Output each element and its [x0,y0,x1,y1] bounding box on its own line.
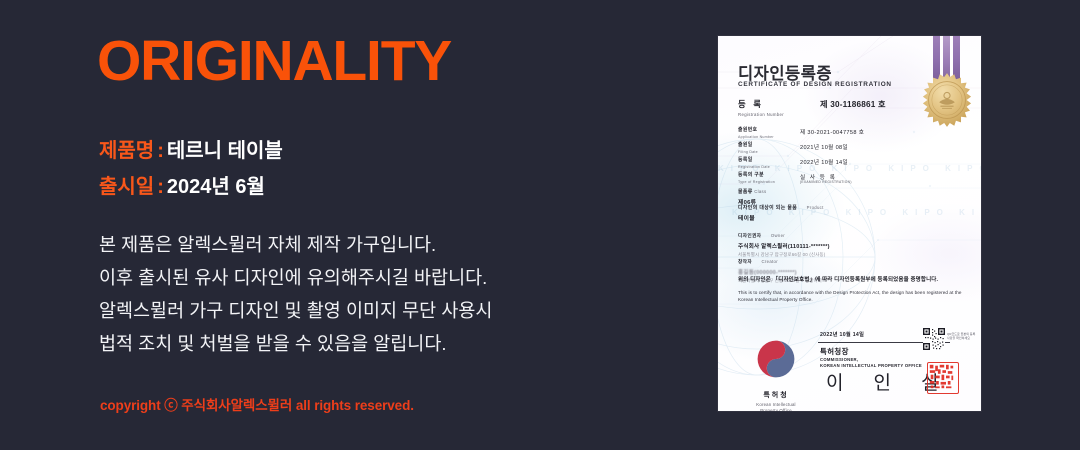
registration-label-en: Registration Number [738,112,966,117]
creator-name: 홍길동(000000-*******) [738,268,968,276]
field-row-application-number: 출원번호 Application Number 제 30-2021-004775… [738,128,968,143]
creator-label: 창작자 Creator [738,259,968,265]
spec-value: 테르니 테이블 [167,140,283,162]
kipo-emblem: 특허청 Korean Intellectual Property Office [740,336,812,411]
spec-label: 제품명 [99,140,154,162]
spec-separator: : [154,140,167,162]
class-label: 물품류 Class [738,188,968,195]
field-value: 2021년 10월 08일 [800,143,848,151]
owner-block: 디자인권자 Owner 주식회사 알렉스뮐러(110111-*******) 서… [738,233,968,258]
field-label-en: Type of Registration [738,180,968,185]
certification-statement: 위의 디자인은 「디자인보호법」에 따라 디자인등록원부에 등록되었음을 증명합… [738,276,964,304]
owner-name: 주식회사 알렉스뮐러(110111-*******) [738,242,968,250]
registration-number-row: 등 록 Registration Number 제 30-1186861 호 [738,98,966,117]
product-label: 디자인의 대상이 되는 물품 Product [738,204,968,211]
spec-separator: : [154,176,167,198]
copyright-notice: copyright ⓒ 주식회사알렉스뮐러 all rights reserve… [100,394,414,414]
taegeuk-logo-icon [753,336,799,382]
kipo-name-en-line2: Property Office [760,408,792,411]
spec-value: 2024년 6월 [167,176,265,198]
notice-line: 본 제품은 알렉스뮐러 자체 제작 가구입니다. [99,228,492,261]
qr-code-note: QR코드로 원본의 등록사항을 확인하세요 [947,332,977,340]
product-value: 테이블 [738,213,968,222]
field-value: 제 30-2021-0047758 호 [800,128,864,136]
statement-ko: 위의 디자인은 「디자인보호법」에 따라 디자인등록원부에 등록되었음을 증명합… [738,276,964,285]
signature-date: 2022년 10월 14일 [820,331,864,338]
commissioner-title-ko: 특허청장 [820,346,849,357]
statement-en: This is to certify that, in accordance w… [738,289,964,304]
product-label-ko: 디자인의 대상이 되는 물품 [738,206,797,211]
certificate-title-en: CERTIFICATE OF DESIGN REGISTRATION [738,81,892,88]
official-red-seal-icon [927,362,959,394]
field-value: 2022년 10월 14일 [800,158,848,166]
page-title: ORIGINALITY [97,33,451,90]
product-label-en: Product [799,205,824,210]
notice-line: 이후 출시된 유사 디자인에 유의해주시길 바랍니다. [99,261,492,294]
class-label-en: Class [754,189,766,194]
field-label-en: Filing Date [738,150,968,155]
spec-row-release-date: 출시일:2024년 6월 [99,169,283,205]
spec-row-product-name: 제품명:테르니 테이블 [99,133,283,169]
certificate-field-table: 출원번호 Application Number 제 30-2021-004775… [738,128,968,188]
field-label-ko: 출원일 [738,143,968,149]
qr-code-icon [923,328,945,350]
field-row-registration-date: 등록일 Registration Date 2022년 10월 14일 [738,158,968,173]
commissioner-title-en: COMMISSIONER, KOREAN INTELLECTUAL PROPER… [820,357,922,368]
product-spec-list: 제품명:테르니 테이블 출시일:2024년 6월 [99,133,283,205]
registration-number-value: 제 30-1186861 호 [820,98,886,110]
class-label-ko: 물품류 [738,190,753,195]
kipo-name-en: Korean Intellectual Property Office [740,402,812,411]
commissioner-title-en-line2: KOREAN INTELLECTUAL PROPERTY OFFICE [820,363,922,368]
notice-line: 법적 조치 및 처벌을 받을 수 있음을 알립니다. [99,327,492,360]
field-row-filing-date: 출원일 Filing Date 2021년 10월 08일 [738,143,968,158]
creator-label-en: Creator [754,259,778,264]
creator-label-ko: 창작자 [738,259,752,264]
kipo-name-ko: 특허청 [740,390,812,400]
field-label-ko: 등록의 구분 [738,173,968,179]
notice-line: 알렉스뮐러 가구 디자인 및 촬영 이미지 무단 사용시 [99,294,492,327]
notice-paragraph: 본 제품은 알렉스뮐러 자체 제작 가구입니다. 이후 출시된 유사 디자인에 … [99,228,492,360]
originality-text-panel: ORIGINALITY 제품명:테르니 테이블 출시일:2024년 6월 본 제… [97,0,657,450]
commissioner-title-en-line1: COMMISSIONER, [820,357,858,362]
owner-label-en: Owner [763,233,785,238]
spec-label: 출시일 [99,176,154,198]
field-label-en: Registration Date [738,165,968,170]
field-row-type-of-registration: 등록의 구분 Type of Registration 실 사 등 록 (EXA… [738,173,968,188]
product-block: 디자인의 대상이 되는 물품 Product 테이블 [738,204,968,222]
field-label-ko: 등록일 [738,158,968,164]
kipo-name-en-line1: Korean Intellectual [756,402,795,407]
owner-label: 디자인권자 Owner [738,233,968,239]
field-value-en: (EXAMINED REGISTRATION) [800,180,852,184]
owner-label-ko: 디자인권자 [738,233,761,238]
design-registration-certificate: KIPO KIPO KIPO KIPO KIPO KIPO KIPO KIPO … [718,36,981,411]
owner-address: 서울특별시 강남구 압구정로66길 00 (신사동) [738,252,968,258]
